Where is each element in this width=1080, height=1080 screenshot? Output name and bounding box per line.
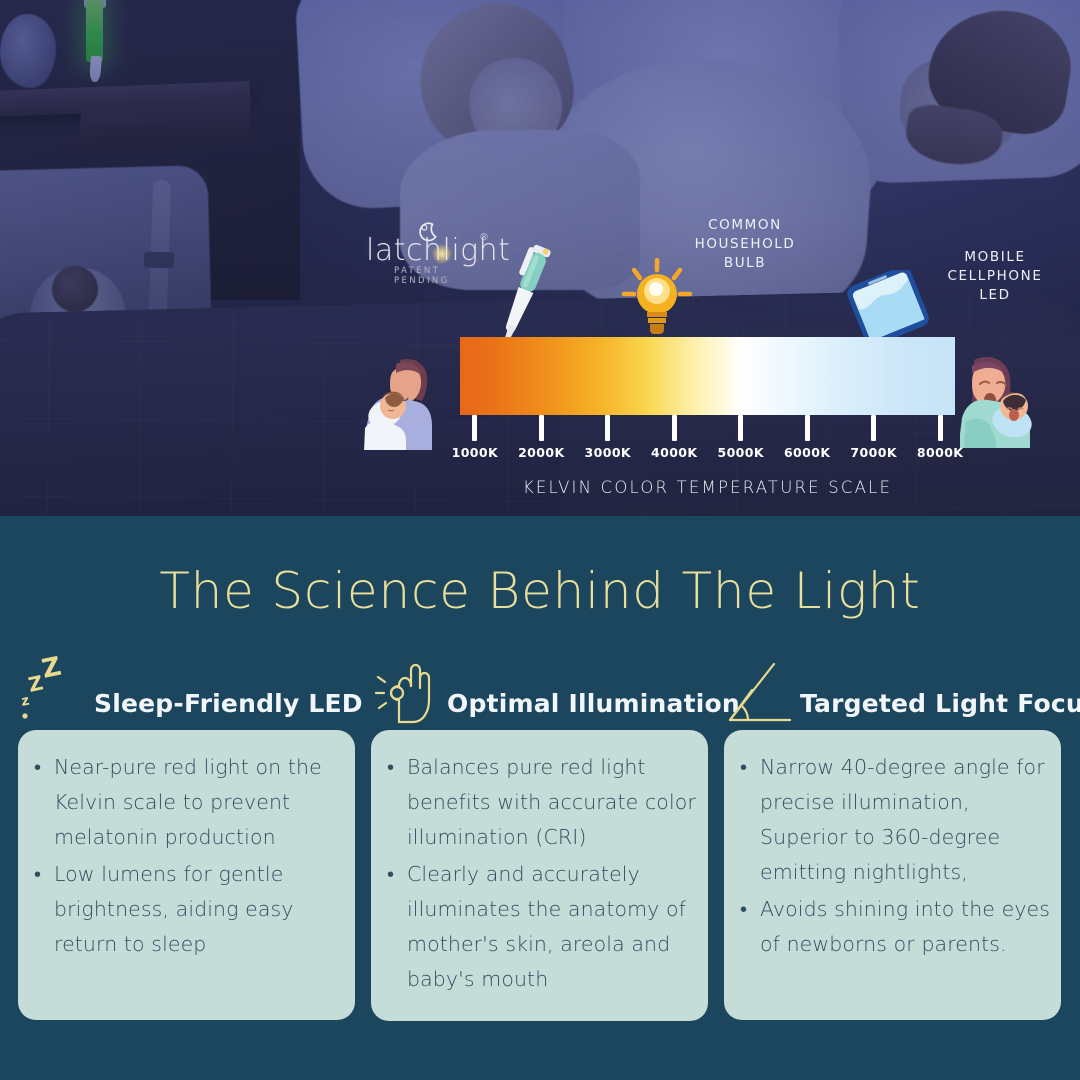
card-title: Targeted Light Focus [800, 689, 1080, 726]
list-item: Narrow 40-degree angle for precise illum… [734, 750, 1055, 890]
feature-card-targeted-light-focus: Targeted Light Focus Narrow 40-degree an… [724, 644, 1061, 1021]
distressed-mother-with-crying-baby-illustration [952, 348, 1052, 448]
kelvin-tick-label: 3000K [585, 445, 631, 460]
list-item: Near-pure red light on the Kelvin scale … [28, 750, 343, 855]
feature-cards: Z Z z Sleep-Friendly LED Near-pure red l… [18, 644, 1062, 1021]
card-header: Optimal Illumination [371, 644, 708, 730]
infographic-root: latchlight ® PATENT PENDING COMMONHOUSEH… [0, 0, 1080, 1080]
svg-text:Z: Z [39, 656, 64, 685]
calm-mother-with-sleeping-baby-illustration [352, 350, 452, 450]
list-item: Avoids shining into the eyes of newborns… [734, 892, 1055, 962]
kelvin-tick [805, 415, 810, 441]
sleep-zzz-icon: Z Z z [22, 656, 86, 726]
ok-hand-icon [375, 656, 439, 726]
kelvin-tick [539, 415, 544, 441]
list-item: Low lumens for gentle brightness, aiding… [28, 857, 343, 962]
callout-cellphone-led: MOBILECELLPHONELED [920, 248, 1070, 305]
light-bulb-icon [620, 258, 694, 336]
feature-card-optimal-illumination: Optimal Illumination Balances pure red l… [371, 644, 708, 1021]
kelvin-tick [605, 415, 610, 441]
kelvin-tick-label: 6000K [784, 445, 830, 460]
card-body: Balances pure red light benefits with ac… [371, 730, 708, 1021]
list-item: Clearly and accurately illuminates the a… [381, 857, 700, 997]
card-header: Targeted Light Focus [724, 644, 1061, 730]
brand-logo: latchlight ® PATENT PENDING [366, 222, 496, 280]
kelvin-tick [672, 415, 677, 441]
list-item: Balances pure red light benefits with ac… [381, 750, 700, 855]
night-scene-photo: latchlight ® PATENT PENDING COMMONHOUSEH… [0, 0, 1080, 516]
registered-mark: ® [479, 232, 489, 243]
card-body: Narrow 40-degree angle for precise illum… [724, 730, 1061, 1020]
kelvin-tick [938, 415, 943, 441]
kelvin-tick [738, 415, 743, 441]
kelvin-tick-labels: 1000K2000K3000K4000K5000K6000K7000K8000K [460, 445, 955, 465]
kelvin-tick [871, 415, 876, 441]
kelvin-tick [472, 415, 477, 441]
kelvin-scale: 1000K2000K3000K4000K5000K6000K7000K8000K [460, 337, 955, 465]
latchlight-device-icon [495, 240, 555, 350]
angle-measure-icon [728, 656, 792, 726]
smartphone-icon [840, 270, 936, 342]
kelvin-scale-caption: KELVIN COLOR TEMPERATURE SCALE [460, 478, 955, 497]
page-title: The Science Behind The Light [0, 562, 1080, 620]
brand-tagline: PATENT PENDING [394, 266, 496, 286]
card-header: Z Z z Sleep-Friendly LED [18, 644, 355, 730]
kelvin-tick-label: 7000K [850, 445, 896, 460]
feature-card-sleep-friendly-led: Z Z z Sleep-Friendly LED Near-pure red l… [18, 644, 355, 1021]
kelvin-tick-label: 5000K [717, 445, 763, 460]
svg-text:z: z [22, 693, 31, 710]
kelvin-tick-label: 2000K [518, 445, 564, 460]
card-title: Optimal Illumination [447, 689, 740, 726]
kelvin-gradient-bar [460, 337, 955, 415]
kelvin-tick-label: 4000K [651, 445, 697, 460]
kelvin-tick-label: 8000K [917, 445, 963, 460]
kelvin-tick-marks [460, 415, 955, 441]
kelvin-tick-label: 1000K [452, 445, 498, 460]
card-title: Sleep-Friendly LED [94, 689, 363, 726]
science-section: The Science Behind The Light Z Z z Sleep… [0, 516, 1080, 1080]
card-body: Near-pure red light on the Kelvin scale … [18, 730, 355, 1020]
